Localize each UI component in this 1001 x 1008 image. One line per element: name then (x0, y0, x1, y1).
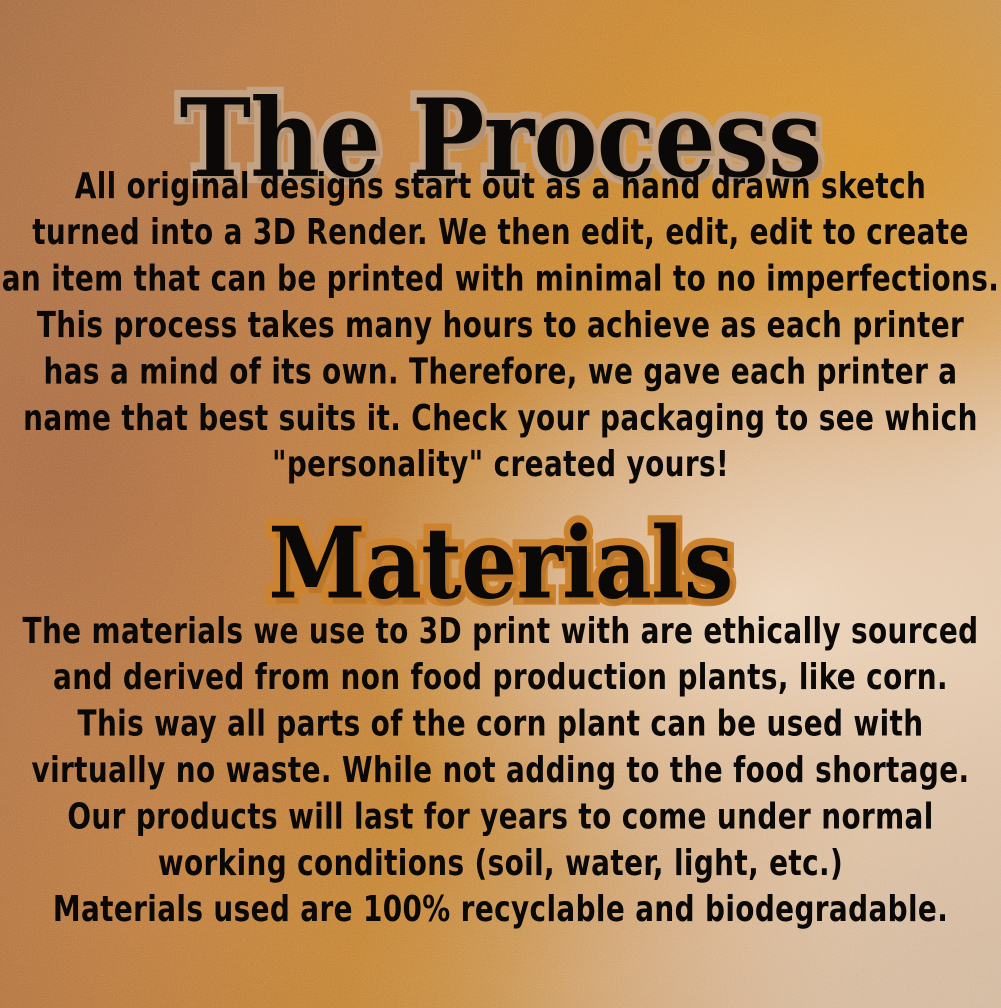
process-body-text: All original designs start out as a hand… (0, 163, 1001, 488)
process-line-6: name that best suits it. Check your pack… (0, 395, 1001, 441)
materials-line-7: Materials used are 100% recyclable and b… (0, 886, 1001, 932)
section-heading-materials: Materials (0, 514, 1001, 613)
materials-line-6: working conditions (soil, water, light, … (0, 840, 1001, 886)
materials-line-5: Our products will last for years to come… (0, 794, 1001, 840)
process-line-1: All original designs start out as a hand… (0, 163, 1001, 209)
materials-line-1: The materials we use to 3D print with ar… (0, 608, 1001, 654)
materials-line-3: This way all parts of the corn plant can… (0, 701, 1001, 747)
process-line-2: turned into a 3D Render. We then edit, e… (0, 209, 1001, 255)
process-line-3: an item that can be printed with minimal… (0, 256, 1001, 302)
poster-content: The Process All original designs start o… (0, 0, 1001, 1008)
materials-body-text: The materials we use to 3D print with ar… (0, 608, 1001, 933)
materials-line-2: and derived from non food production pla… (0, 654, 1001, 700)
poster-canvas: The Process All original designs start o… (0, 0, 1001, 1008)
process-line-7: "personality" created yours! (0, 441, 1001, 487)
process-line-4: This process takes many hours to achieve… (0, 302, 1001, 348)
materials-line-4: virtually no waste. While not adding to … (0, 747, 1001, 793)
process-line-5: has a mind of its own. Therefore, we gav… (0, 349, 1001, 395)
